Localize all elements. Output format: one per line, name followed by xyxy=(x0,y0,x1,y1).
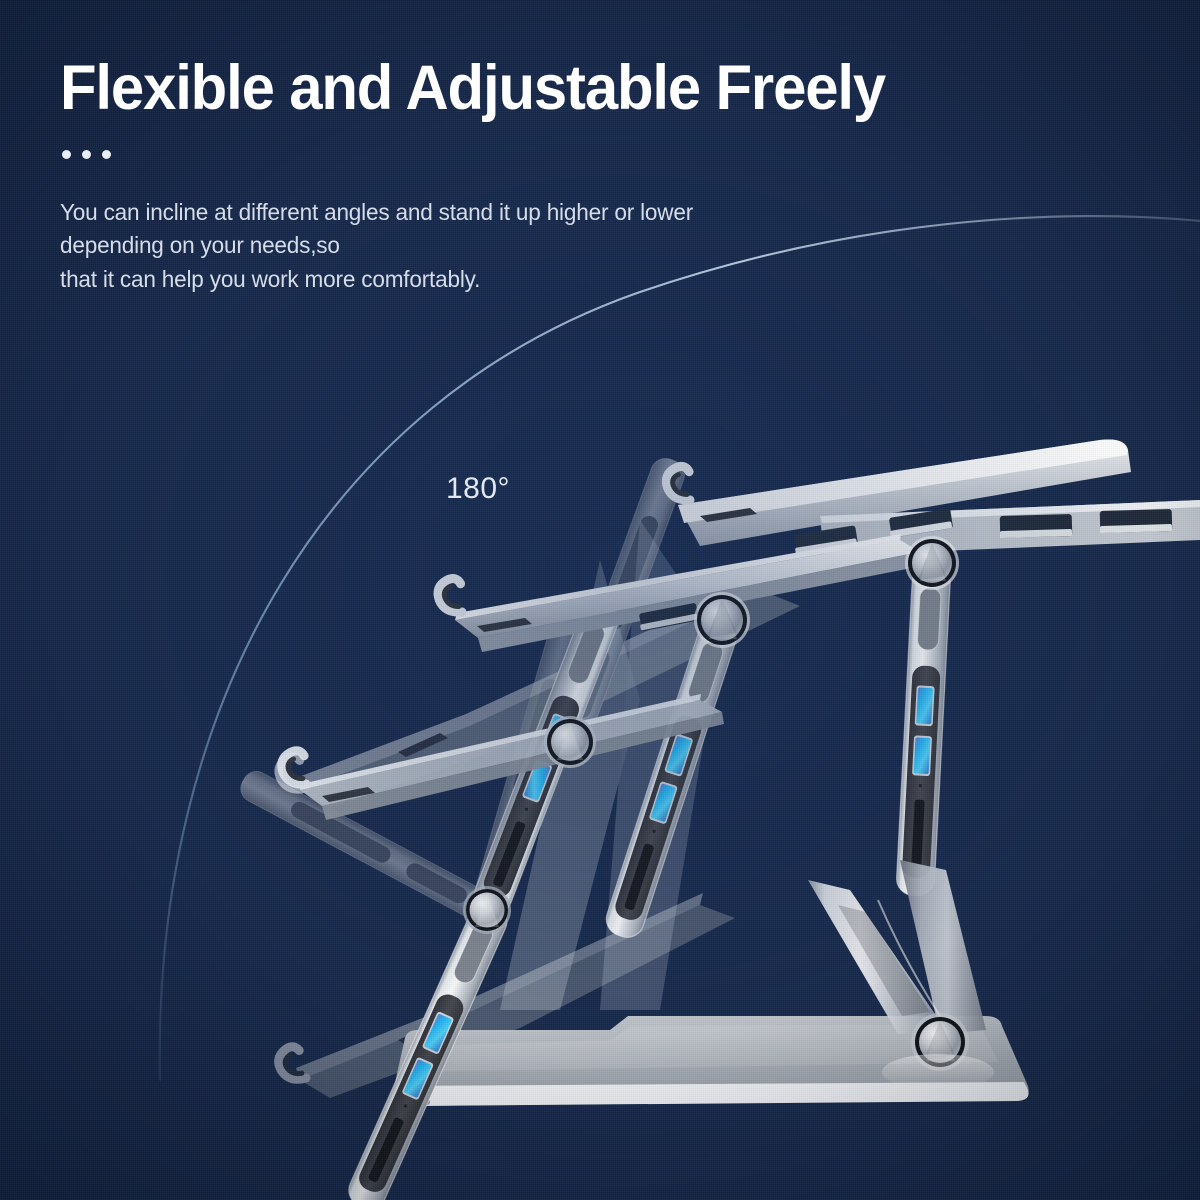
product-marketing-image: Flexible and Adjustable Freely You can i… xyxy=(0,0,1200,1200)
body-copy-line-1: You can incline at different angles and … xyxy=(60,196,693,229)
pivot-top-right xyxy=(905,536,959,590)
body-copy-line-2: depending on your needs,so xyxy=(60,229,693,262)
pivot-lower-mid-front xyxy=(544,716,596,768)
support-struts xyxy=(808,860,986,1034)
pivot-lower-left-front xyxy=(463,886,511,934)
divider-dot xyxy=(102,150,111,159)
divider-dots xyxy=(62,150,111,159)
body-copy: You can incline at different angles and … xyxy=(60,196,693,296)
pivot-upper-mid xyxy=(694,592,750,648)
angle-annotation-label: 180° xyxy=(446,472,510,506)
leg-right-ports xyxy=(896,565,951,897)
mid-platform-hook xyxy=(435,577,465,616)
stand-position-high-front xyxy=(279,439,1200,1200)
divider-dot xyxy=(82,150,91,159)
product-illustration xyxy=(0,0,1200,1200)
page-title: Flexible and Adjustable Freely xyxy=(60,56,885,122)
body-copy-line-3: that it can help you work more comfortab… xyxy=(60,263,693,296)
divider-dot xyxy=(62,150,71,159)
